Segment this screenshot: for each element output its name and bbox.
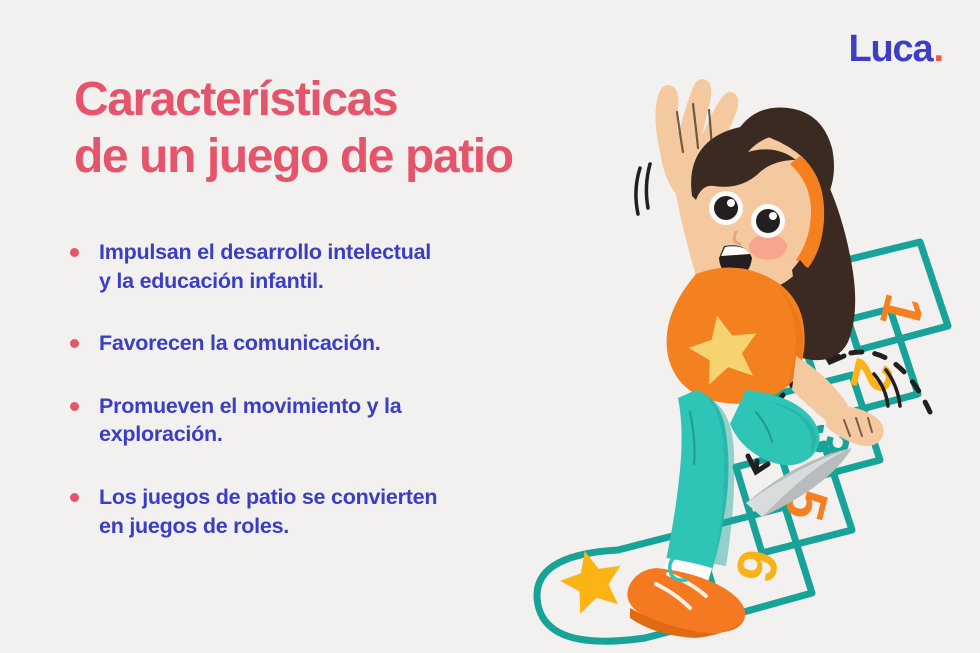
list-item-label: Promueven el movimiento y la exploración… xyxy=(99,392,566,449)
list-item: Impulsan el desarrollo intelectual y la … xyxy=(66,238,566,295)
bullet-dot-icon xyxy=(70,402,79,411)
motion-lines-icon xyxy=(636,164,650,214)
list-item-label: Los juegos de patio se convierten en jue… xyxy=(99,483,566,540)
list-item-label: Impulsan el desarrollo intelectual y la … xyxy=(99,238,566,295)
bullet-dot-icon xyxy=(70,248,79,257)
characteristics-list: Impulsan el desarrollo intelectual y la … xyxy=(66,238,566,540)
list-item: Los juegos de patio se convierten en jue… xyxy=(66,483,566,540)
list-item-label: Favorecen la comunicación. xyxy=(99,329,566,358)
hopscotch-illustration: 1 2 3 5 6 xyxy=(500,60,980,653)
infographic-poster: Luca . Características de un juego de pa… xyxy=(0,0,980,653)
list-item: Favorecen la comunicación. xyxy=(66,329,566,358)
hopscotch-number-1: 1 xyxy=(868,288,937,333)
bullet-dot-icon xyxy=(70,493,79,502)
bullet-dot-icon xyxy=(70,339,79,348)
list-item: Promueven el movimiento y la exploración… xyxy=(66,392,566,449)
